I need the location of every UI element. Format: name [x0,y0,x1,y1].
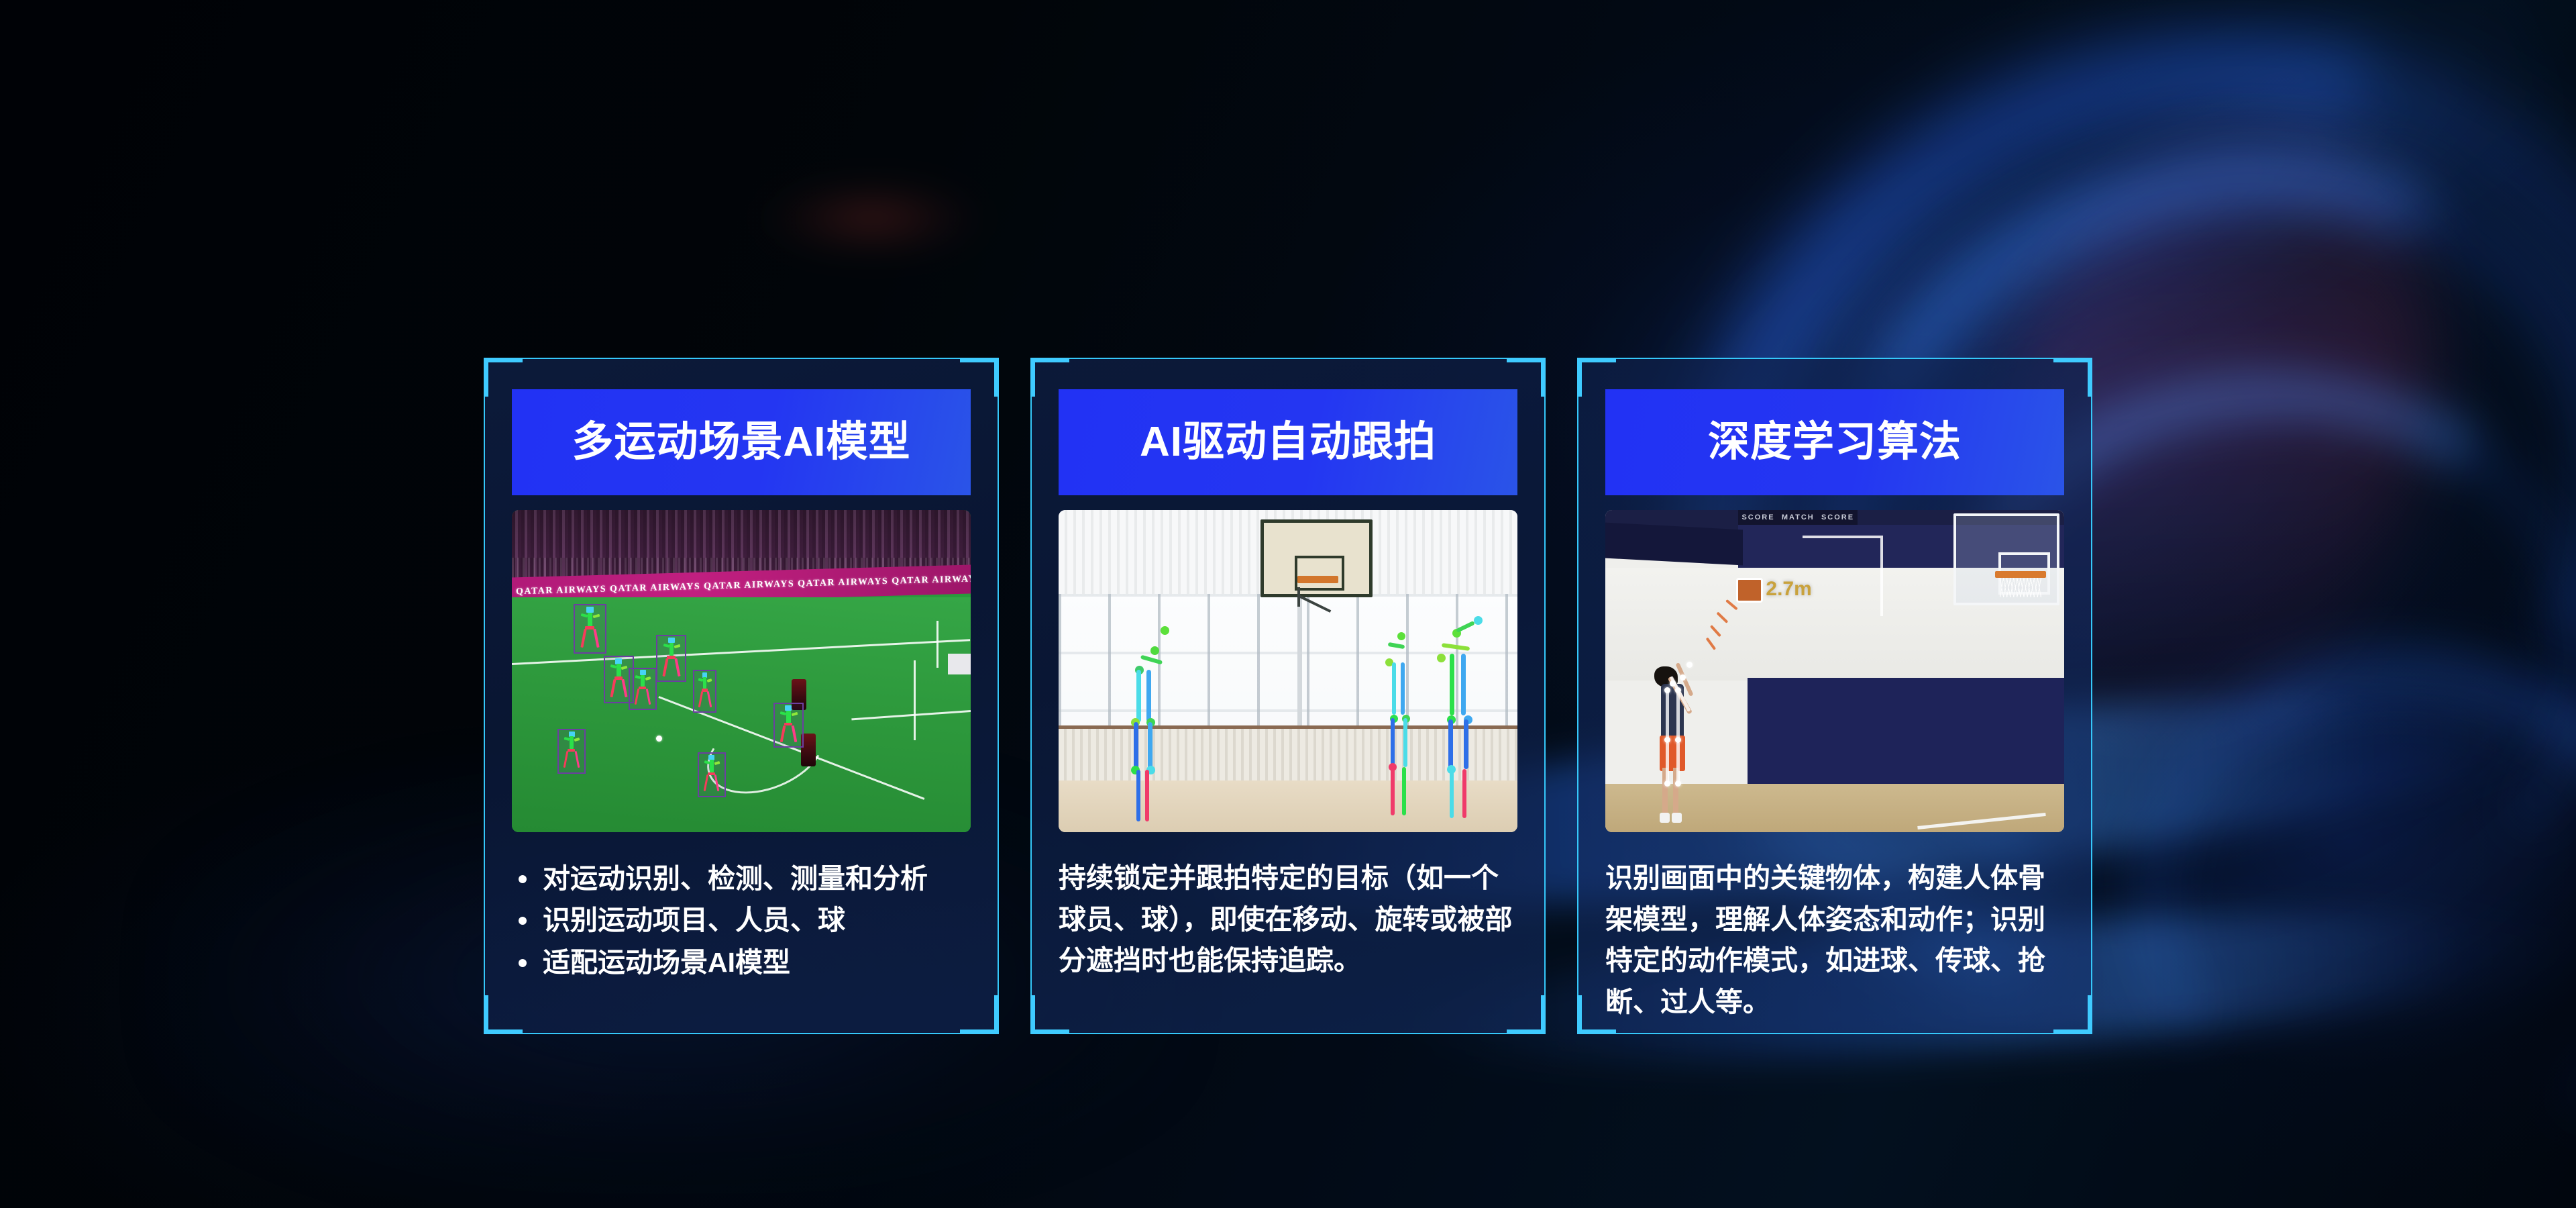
detection-box [574,604,606,654]
background-red-spark [765,181,979,255]
page-background: 多运动场景AI模型 QATAR AIRWAYS QATAR AIRWAYS QA… [0,0,2576,1208]
basketball-rim [1297,576,1339,583]
skeleton-bone [1676,691,1680,739]
card-description: 识别画面中的关键物体，构建人体骨架模型，理解人体姿态和动作；识别特定的动作模式，… [1605,858,2064,1023]
card-body: 持续锁定并跟拍特定的目标（如一个球员、球），即使在移动、旋转或被部分遮挡时也能保… [1059,858,1517,1033]
card-description: 持续锁定并跟拍特定的目标（如一个球员、球），即使在移动、旋转或被部分遮挡时也能保… [1059,858,1517,982]
basketball-net [2000,578,2041,597]
detection-box [557,729,586,774]
court-dark-stripe [1605,523,1743,566]
feature-card-multi-sport-ai-model[interactable]: 多运动场景AI模型 QATAR AIRWAYS QATAR AIRWAYS QA… [484,358,999,1034]
feature-card-deep-learning-algorithm[interactable]: 深度学习算法 SCORE MATCH SCORE [1577,358,2092,1034]
sponsor-banner-text: QATAR AIRWAYS QATAR AIRWAYS QATAR AIRWAY… [512,571,971,598]
card-title: 深度学习算法 [1708,421,1962,463]
shooter-shoe-right [1672,813,1682,822]
court-navy-lower-pad [1748,678,2064,784]
skeleton-bone [1676,742,1680,784]
pose-skeleton [1128,626,1192,826]
pitch-goal-post [936,621,938,668]
ball-detection-box [1736,578,1763,603]
skeleton-bone [1666,742,1669,784]
list-item: 识别运动项目、人员、球 [512,899,971,941]
basketball-shooter [1647,662,1711,823]
skeleton-keypoint [1664,781,1670,787]
measure-guide-horizontal [1803,536,1880,538]
card-media-gym-pose-skeleton [1059,510,1517,832]
court-scene: SCORE MATCH SCORE [1605,510,2064,832]
card-content: 多运动场景AI模型 QATAR AIRWAYS QATAR AIRWAYS QA… [485,359,998,1033]
soccer-pitch [512,597,971,832]
advert-board [948,654,971,675]
feature-card-ai-auto-tracking[interactable]: AI驱动自动跟拍 [1030,358,1546,1034]
card-content: 深度学习算法 SCORE MATCH SCORE [1578,359,2091,1033]
measurement-value: 2.7m [1766,578,1811,601]
scoreboard-label: SCORE [1741,513,1774,521]
card-title: 多运动场景AI模型 [572,421,910,463]
card-media-shot-measurement: SCORE MATCH SCORE [1605,510,2064,832]
background-light-ribbon-4 [2088,604,2576,1208]
feature-card-list: 多运动场景AI模型 QATAR AIRWAYS QATAR AIRWAYS QA… [484,358,2092,1034]
card-title-banner: AI驱动自动跟拍 [1059,389,1517,495]
detection-box [629,668,657,711]
detection-box [656,635,686,683]
card-title-banner: 深度学习算法 [1605,389,2064,495]
shooter-shoe-left [1660,813,1670,822]
card-title-banner: 多运动场景AI模型 [512,389,971,495]
skeleton-keypoint [1675,781,1681,787]
detection-box [698,752,726,797]
basketball-rim [1995,571,2045,578]
backboard-square [1295,556,1344,591]
card-title: AI驱动自动跟拍 [1140,421,1436,463]
card-body: 对运动识别、检测、测量和分析 识别运动项目、人员、球 适配运动场景AI模型 [512,858,971,1033]
detection-box [773,703,804,748]
scoreboard-label: MATCH [1782,513,1815,521]
pose-skeleton [1430,616,1495,822]
shooter-shorts [1660,736,1685,771]
scoreboard-label: SCORE [1821,513,1854,521]
pitch-line-box-vertical [914,660,916,740]
skeleton-keypoint [1675,687,1681,693]
detection-box [693,670,716,713]
soccer-scene: QATAR AIRWAYS QATAR AIRWAYS QATAR AIRWAY… [512,510,971,832]
card-media-soccer-detection: QATAR AIRWAYS QATAR AIRWAYS QATAR AIRWAY… [512,510,971,832]
scoreboard: SCORE MATCH SCORE [1738,510,1858,525]
window-mullion [1297,594,1302,729]
card-content: AI驱动自动跟拍 [1032,359,1544,1033]
list-item: 适配运动场景AI模型 [512,942,971,983]
gym-scene [1059,510,1517,832]
feature-bullet-list: 对运动识别、检测、测量和分析 识别运动项目、人员、球 适配运动场景AI模型 [512,858,971,983]
basketball-backboard [1260,519,1373,597]
list-item: 对运动识别、检测、测量和分析 [512,858,971,899]
skeleton-bone [1666,691,1669,739]
pitch-line-box-horizontal [852,710,971,720]
soccer-ball [656,736,662,742]
skeleton-keypoint [1686,662,1693,668]
measure-guide-vertical [1880,536,1883,616]
card-body: 识别画面中的关键物体，构建人体骨架模型，理解人体姿态和动作；识别特定的动作模式，… [1605,858,2064,1033]
